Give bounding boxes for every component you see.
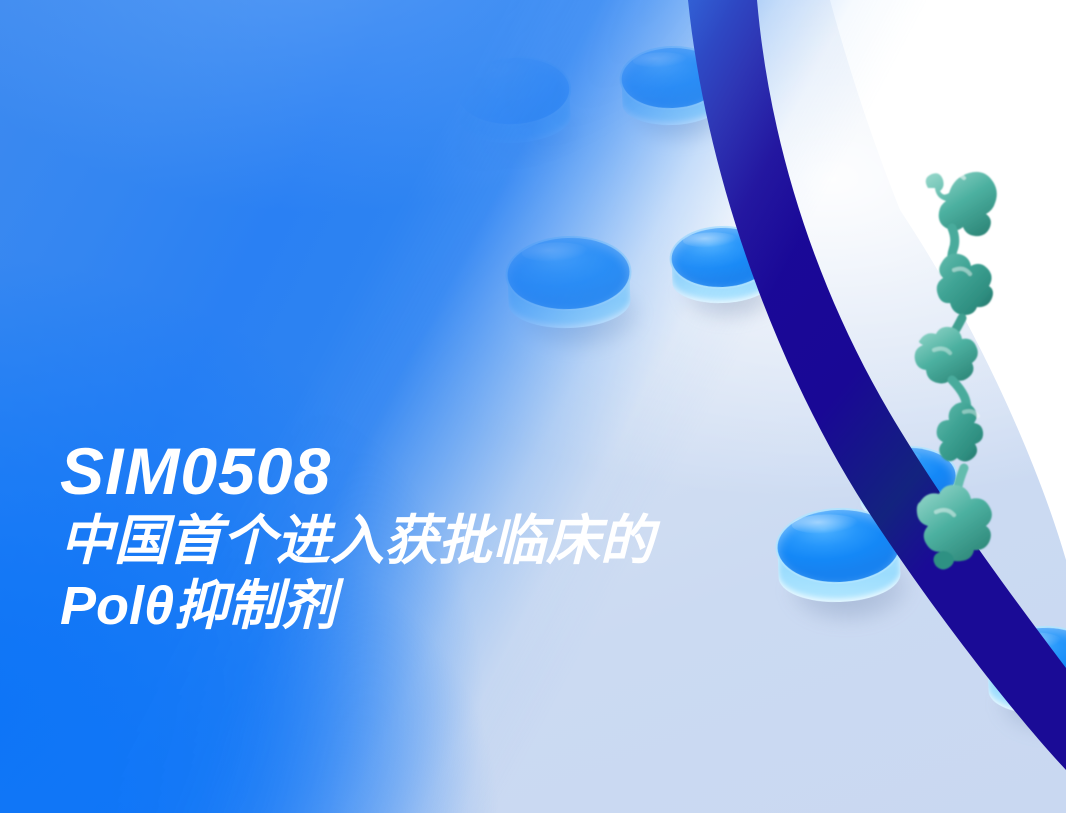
blue-gradient-highlight <box>0 0 1066 813</box>
poster-text-block: SIM0508 中国首个进入获批临床的 Polθ抑制剂 <box>60 432 840 638</box>
subtitle-line-1: 中国首个进入获批临床的 <box>60 510 840 573</box>
page-title: SIM0508 <box>60 432 840 510</box>
subtitle-line-2: Polθ抑制剂 <box>60 575 840 638</box>
poster-canvas: SIM0508 中国首个进入获批临床的 Polθ抑制剂 <box>0 0 1066 813</box>
